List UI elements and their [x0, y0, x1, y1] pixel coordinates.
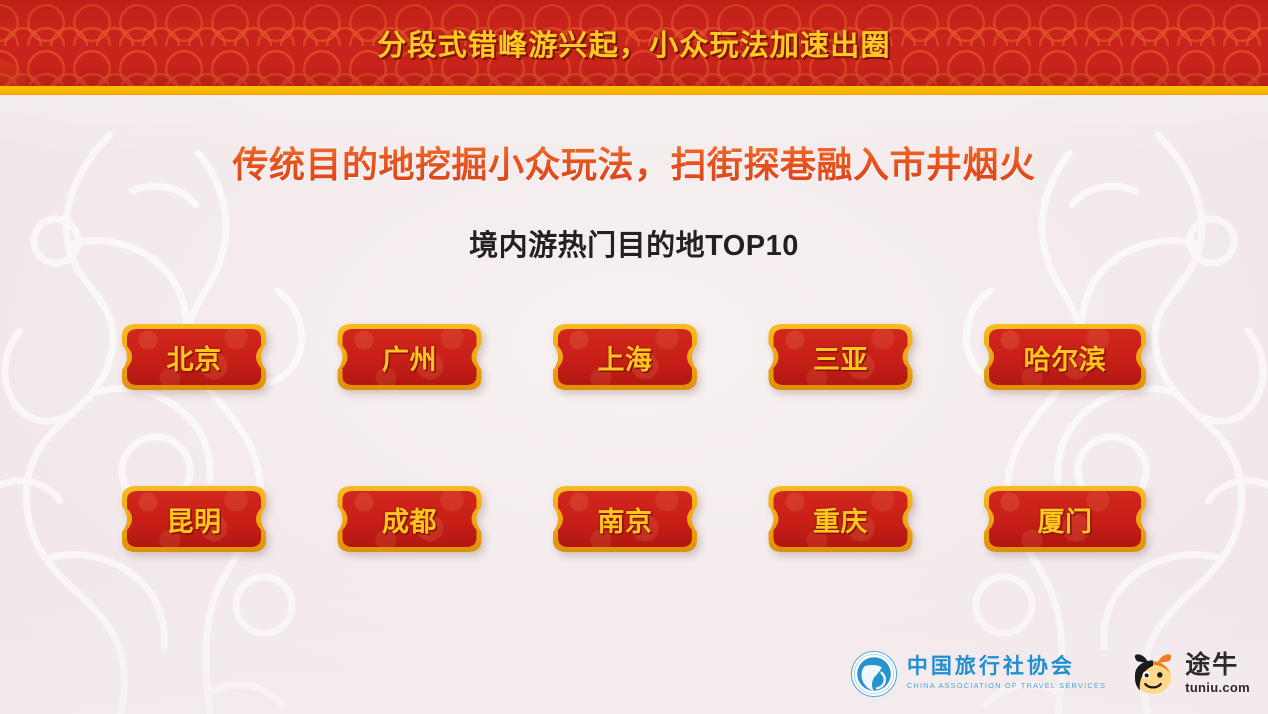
destination-label: 厦门: [1038, 500, 1093, 539]
destination-badge-10[interactable]: 厦门: [980, 484, 1150, 554]
destination-badge-6[interactable]: 昆明: [118, 484, 270, 554]
tuniu-logo: 途牛 tuniu.com: [1128, 651, 1250, 697]
destination-badge-4[interactable]: 三亚: [765, 322, 917, 392]
destination-label: 广州: [382, 338, 437, 377]
footer-logos: 中国旅行社协会 CHINA ASSOCIATION OF TRAVEL SERV…: [850, 650, 1250, 698]
cats-name-cn: 中国旅行社协会: [907, 656, 1106, 679]
destination-row-1: 北京 广州 上海 三亚 哈尔滨: [118, 322, 1150, 392]
destination-badge-2[interactable]: 广州: [334, 322, 486, 392]
cats-name-en: CHINA ASSOCIATION OF TRAVEL SERVICES: [907, 681, 1106, 692]
destination-badge-9[interactable]: 重庆: [765, 484, 917, 554]
banner-title: 分段式错峰游兴起，小众玩法加速出圈: [0, 0, 1268, 86]
cow-mascot-icon: [1128, 651, 1178, 697]
banner-gold-rule: [0, 86, 1268, 95]
destination-badge-5[interactable]: 哈尔滨: [980, 322, 1150, 392]
destination-label: 哈尔滨: [1024, 338, 1107, 377]
destination-label: 南京: [598, 500, 653, 539]
slide-canvas: 分段式错峰游兴起，小众玩法加速出圈 传统目的地挖掘小众玩法，扫街探巷融入市井烟火…: [0, 0, 1268, 714]
tuniu-name-cn: 途牛: [1185, 652, 1250, 678]
tuniu-name-en: tuniu.com: [1185, 680, 1250, 696]
page-headline: 传统目的地挖掘小众玩法，扫街探巷融入市井烟火: [0, 136, 1268, 188]
destination-badge-3[interactable]: 上海: [549, 322, 701, 392]
destination-badge-1[interactable]: 北京: [118, 322, 270, 392]
destination-label: 重庆: [813, 500, 868, 539]
destination-label: 三亚: [813, 338, 868, 377]
destination-label: 上海: [598, 338, 653, 377]
page-subheadline: 境内游热门目的地TOP10: [0, 222, 1268, 264]
tuniu-logo-text: 途牛 tuniu.com: [1185, 652, 1250, 696]
destination-row-2: 昆明 成都 南京 重庆 厦门: [118, 484, 1150, 554]
destination-label: 北京: [167, 338, 222, 377]
destination-badge-8[interactable]: 南京: [549, 484, 701, 554]
destination-label: 昆明: [167, 500, 222, 539]
globe-icon: [850, 650, 898, 698]
destination-label: 成都: [382, 500, 437, 539]
top-banner: 分段式错峰游兴起，小众玩法加速出圈: [0, 0, 1268, 86]
cats-logo-text: 中国旅行社协会 CHINA ASSOCIATION OF TRAVEL SERV…: [907, 656, 1106, 691]
destination-grid: 北京 广州 上海 三亚 哈尔滨: [118, 322, 1150, 554]
destination-badge-7[interactable]: 成都: [334, 484, 486, 554]
cats-logo: 中国旅行社协会 CHINA ASSOCIATION OF TRAVEL SERV…: [850, 650, 1106, 698]
